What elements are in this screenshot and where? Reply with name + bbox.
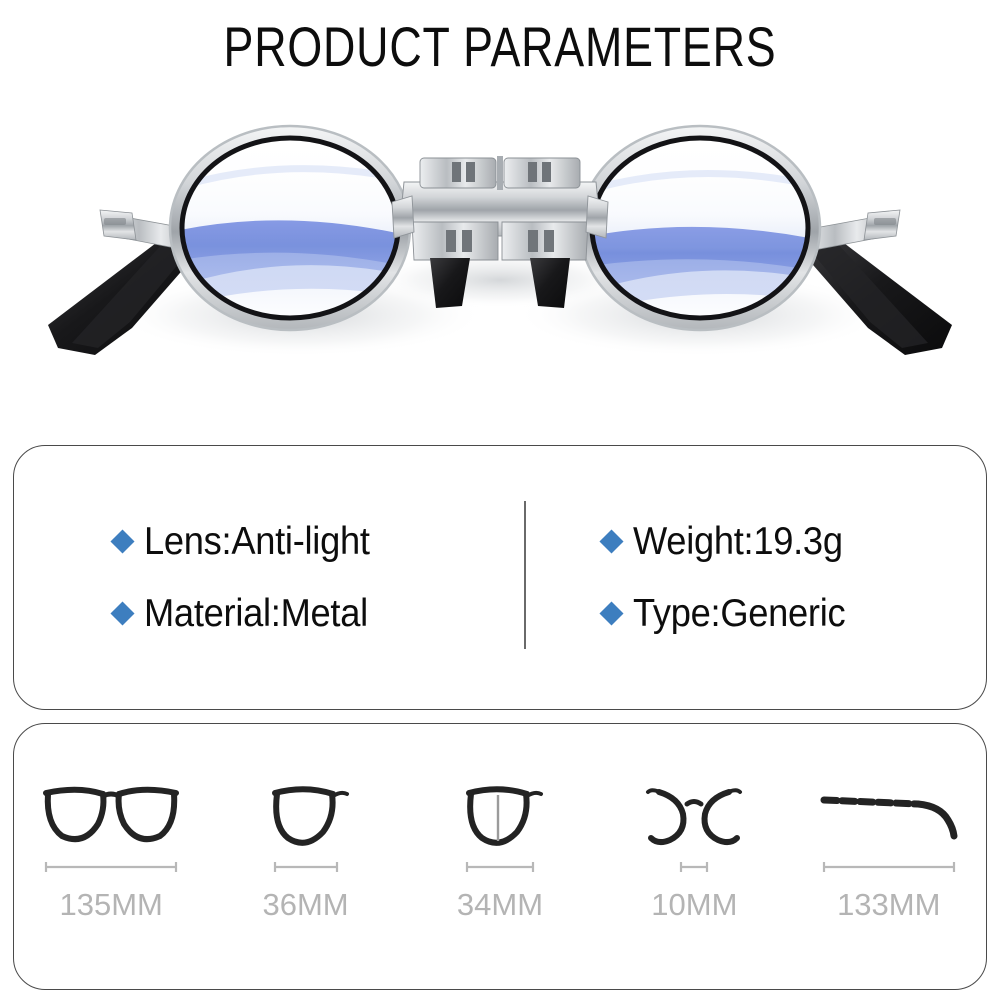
dimension-item-lens-width: 36MM <box>218 772 393 923</box>
measure-bar <box>639 861 749 873</box>
measure-bar <box>256 861 356 873</box>
measure-bar <box>450 861 550 873</box>
spec-label-material: Material:Metal <box>144 592 368 636</box>
specifications-panel: Lens:Anti-light Material:Metal Weight:19… <box>13 445 987 710</box>
dimension-item-temple-length: 133MM <box>801 772 976 923</box>
diamond-bullet-icon <box>110 529 134 553</box>
spec-item-weight: Weight:19.3g <box>603 520 986 564</box>
lens-height-icon <box>450 772 550 852</box>
full-frame-front-icon <box>36 772 186 852</box>
dimension-item-lens-height: 34MM <box>412 772 587 923</box>
dimensions-panel: 135MM 36 <box>13 723 987 990</box>
dimension-value-lens-width: 36MM <box>263 887 349 923</box>
spec-item-type: Type:Generic <box>603 592 986 636</box>
diamond-bullet-icon <box>599 601 623 625</box>
measure-bar <box>814 861 964 873</box>
dimension-value-frame-width: 135MM <box>60 887 163 923</box>
dimension-value-lens-height: 34MM <box>457 887 543 923</box>
spec-label-weight: Weight:19.3g <box>633 520 843 564</box>
dimension-value-bridge-width: 10MM <box>651 887 737 923</box>
measure-bar <box>36 861 186 873</box>
product-photo <box>0 110 1000 395</box>
spec-label-lens: Lens:Anti-light <box>144 520 370 564</box>
bridge-width-icon <box>639 772 749 852</box>
temple-arm-icon <box>814 772 964 852</box>
dimension-value-temple-length: 133MM <box>837 887 940 923</box>
dimension-item-frame-width: 135MM <box>24 772 199 923</box>
spec-item-material: Material:Metal <box>114 592 500 636</box>
diamond-bullet-icon <box>110 601 134 625</box>
specs-left-column: Lens:Anti-light Material:Metal <box>14 446 500 709</box>
specs-right-column: Weight:19.3g Type:Generic <box>500 446 986 709</box>
product-parameters-page: PRODUCT PARAMETERS <box>0 0 1000 1000</box>
spec-item-lens: Lens:Anti-light <box>114 520 500 564</box>
lens-width-icon <box>256 772 356 852</box>
spec-label-type: Type:Generic <box>633 592 845 636</box>
diamond-bullet-icon <box>599 529 623 553</box>
dimension-item-bridge-width: 10MM <box>607 772 782 923</box>
page-title: PRODUCT PARAMETERS <box>100 14 900 79</box>
